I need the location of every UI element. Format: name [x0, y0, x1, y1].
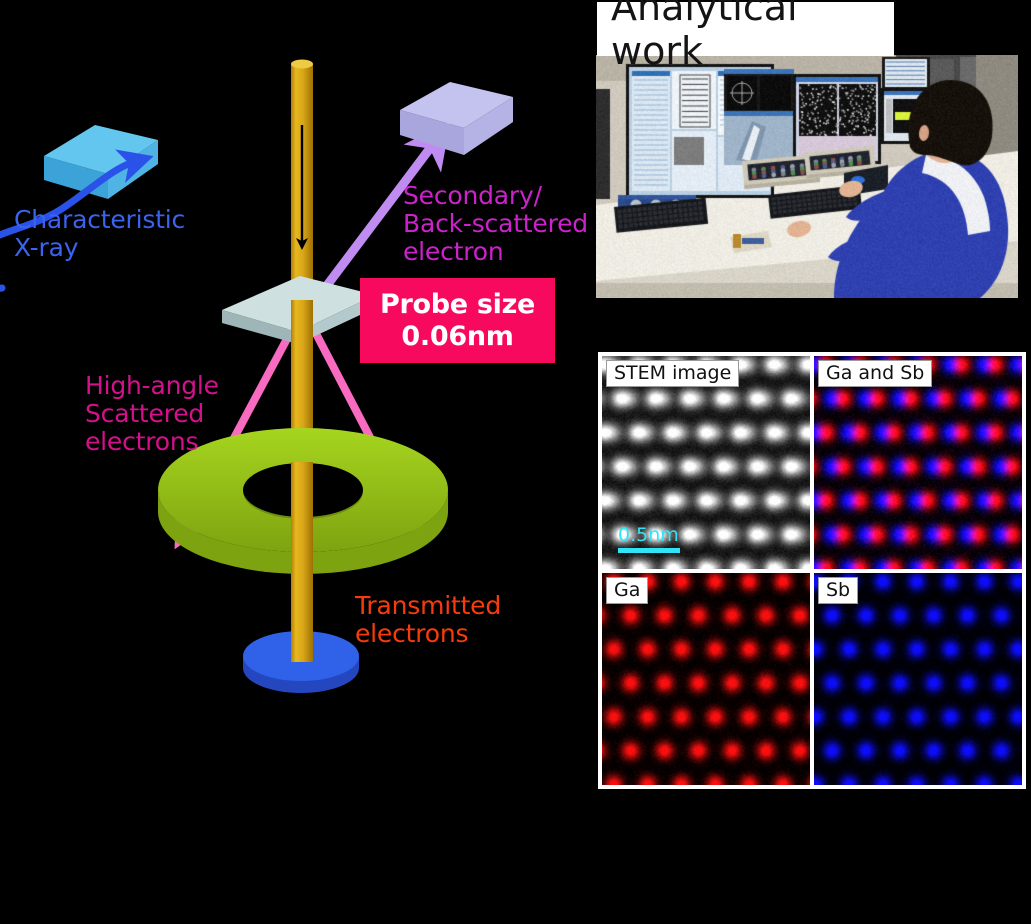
sb-elemental-map: [814, 573, 1022, 786]
xray-detector-box: [44, 125, 158, 199]
tile-label-ga: Ga: [606, 577, 648, 604]
stem-detector-schematic: Characteristic X-ray Secondary/ Back-sca…: [0, 0, 590, 924]
figure-root: Characteristic X-ray Secondary/ Back-sca…: [0, 0, 1031, 924]
label-high-angle-scattered-electrons: High-angle Scattered electrons: [85, 372, 219, 456]
scale-bar-text: 0.5nm: [618, 526, 680, 545]
photograph-canvas: [596, 55, 1018, 298]
tile-ga-and-sb: Ga and Sb: [814, 356, 1022, 569]
scale-bar-line: [618, 548, 680, 553]
analytical-work-photograph: [596, 55, 1018, 298]
analytical-work-title: Analytical work: [597, 2, 894, 56]
tile-sb: Sb: [814, 573, 1022, 786]
ga-sb-overlay-map: [814, 356, 1022, 569]
tile-ga: Ga: [602, 573, 810, 786]
electron-detector-box: [400, 82, 513, 155]
scale-bar: 0.5nm: [618, 526, 680, 553]
schematic-svg: [0, 0, 590, 924]
tile-label-stem-image: STEM image: [606, 360, 739, 387]
beam-column-end: [291, 600, 313, 662]
label-characteristic-xray: Characteristic X-ray: [14, 206, 185, 262]
label-secondary-backscattered-electron: Secondary/ Back-scattered electron: [403, 182, 588, 266]
tile-stem-image: STEM image 0.5nm: [602, 356, 810, 569]
stem-eds-map-montage: STEM image 0.5nm Ga and Sb Ga Sb: [598, 352, 1026, 789]
tile-label-sb: Sb: [818, 577, 858, 604]
ga-elemental-map: [602, 573, 810, 786]
tile-label-ga-and-sb: Ga and Sb: [818, 360, 932, 387]
label-transmitted-electrons: Transmitted electrons: [355, 592, 501, 648]
probe-size-line1: Probe size: [380, 289, 535, 321]
probe-size-callout: Probe size 0.06nm: [360, 278, 555, 363]
probe-size-line2: 0.06nm: [401, 321, 513, 353]
